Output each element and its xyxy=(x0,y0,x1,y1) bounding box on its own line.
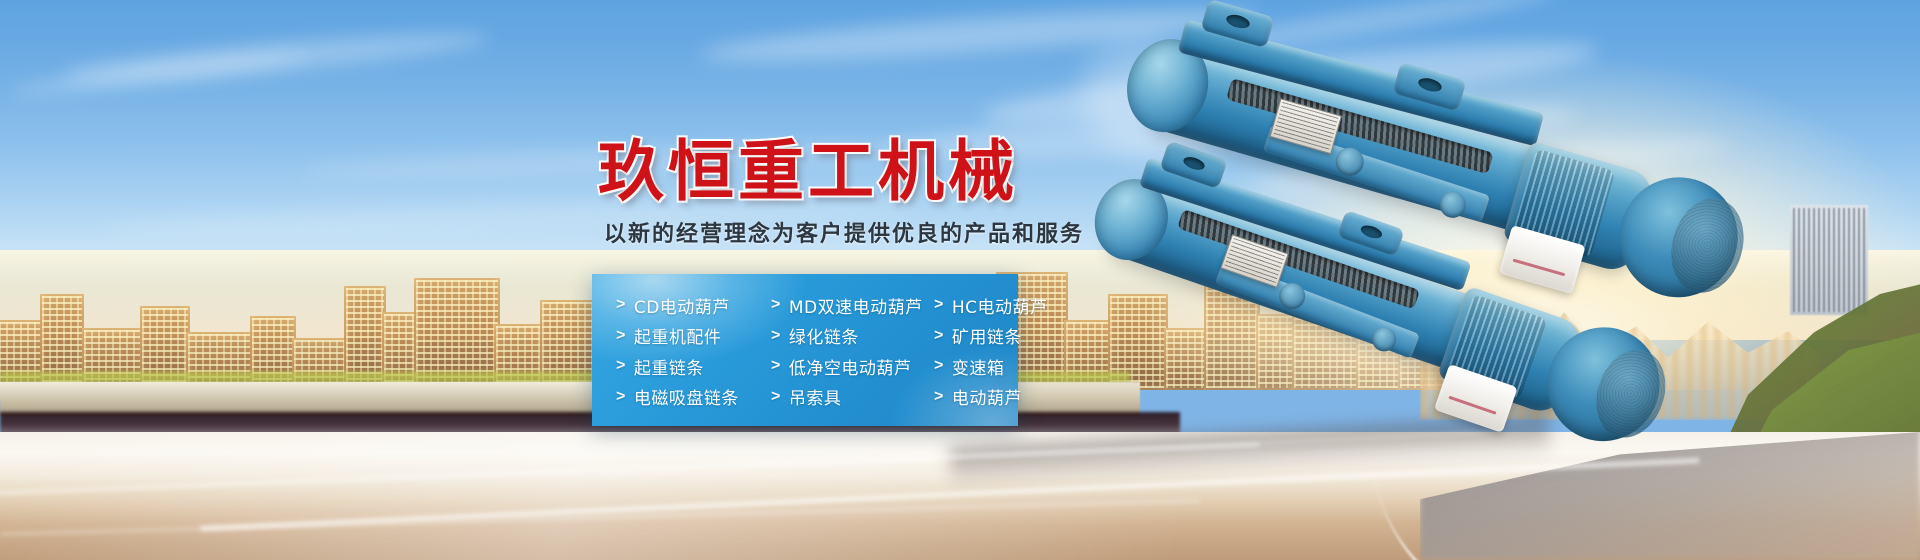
product-link-lifting-chain[interactable]: >起重链条 xyxy=(616,351,771,382)
product-link-electric-hoist[interactable]: >电动葫芦 xyxy=(934,382,1042,413)
product-label: MD双速电动葫芦 xyxy=(789,293,923,318)
product-label: 吊索具 xyxy=(789,384,842,409)
chevron-right-icon: > xyxy=(616,388,626,406)
chevron-right-icon: > xyxy=(934,296,944,314)
distant-tower xyxy=(1790,205,1868,315)
chevron-right-icon: > xyxy=(934,388,944,406)
chevron-right-icon: > xyxy=(934,357,944,375)
product-link-mining-chain[interactable]: >矿用链条 xyxy=(934,321,1042,352)
product-label: 矿用链条 xyxy=(952,323,1022,348)
product-label: CD电动葫芦 xyxy=(634,293,730,318)
chevron-right-icon: > xyxy=(616,357,626,375)
product-list-panel: >CD电动葫芦 >MD双速电动葫芦 >HC电动葫芦 >起重机配件 >绿化链条 >… xyxy=(592,274,1018,426)
chevron-right-icon: > xyxy=(616,296,626,314)
product-label: 起重机配件 xyxy=(634,323,722,348)
product-label: 变速箱 xyxy=(952,354,1005,379)
product-label: 电磁吸盘链条 xyxy=(634,384,739,409)
junction-box-stripe xyxy=(1513,259,1566,277)
product-label: 电动葫芦 xyxy=(952,384,1022,409)
product-list-grid: >CD电动葫芦 >MD双速电动葫芦 >HC电动葫芦 >起重机配件 >绿化链条 >… xyxy=(592,274,1018,426)
chevron-right-icon: > xyxy=(616,327,626,345)
chevron-right-icon: > xyxy=(934,327,944,345)
chevron-right-icon: > xyxy=(771,388,781,406)
product-link-gearbox[interactable]: >变速箱 xyxy=(934,351,1042,382)
product-link-low-headroom-hoist[interactable]: >低净空电动葫芦 xyxy=(771,351,934,382)
chevron-right-icon: > xyxy=(771,357,781,375)
product-link-crane-parts[interactable]: >起重机配件 xyxy=(616,321,771,352)
product-link-magnetic-chuck-chain[interactable]: >电磁吸盘链条 xyxy=(616,382,771,413)
junction-box-stripe xyxy=(1448,396,1496,415)
product-link-hc-hoist[interactable]: >HC电动葫芦 xyxy=(934,290,1042,321)
chevron-right-icon: > xyxy=(771,296,781,314)
road-barrier-upper xyxy=(0,382,640,400)
product-link-md-dual-speed-hoist[interactable]: >MD双速电动葫芦 xyxy=(771,290,934,321)
product-label: 绿化链条 xyxy=(789,323,859,348)
hero-banner: 玖恒重工机械 以新的经营理念为客户提供优良的产品和服务 >CD电动葫芦 >MD双… xyxy=(0,0,1920,560)
product-link-greening-chain[interactable]: >绿化链条 xyxy=(771,321,934,352)
product-label: HC电动葫芦 xyxy=(952,293,1048,318)
product-link-cd-hoist[interactable]: >CD电动葫芦 xyxy=(616,290,771,321)
page-subtitle: 以新的经营理念为客户提供优良的产品和服务 xyxy=(604,216,1084,248)
product-label: 起重链条 xyxy=(634,354,704,379)
product-label: 低净空电动葫芦 xyxy=(789,354,912,379)
page-title: 玖恒重工机械 xyxy=(598,118,1018,214)
chevron-right-icon: > xyxy=(771,327,781,345)
product-link-slings[interactable]: >吊索具 xyxy=(771,382,934,413)
